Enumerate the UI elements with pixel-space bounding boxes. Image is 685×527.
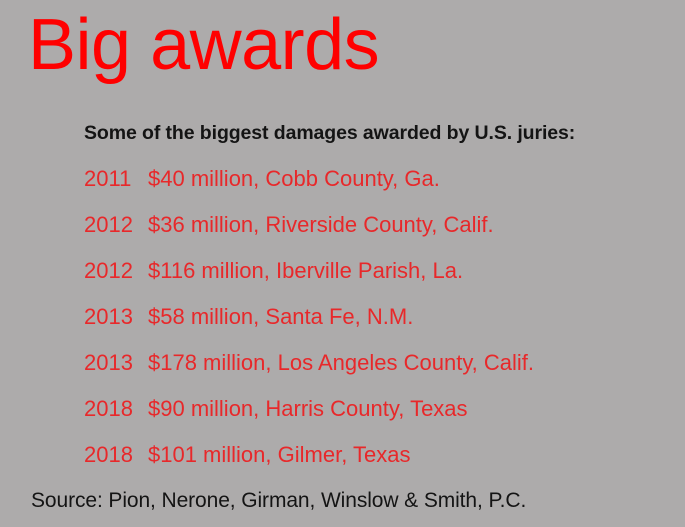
- awards-list: 2011$40 million, Cobb County, Ga. 2012$3…: [84, 164, 644, 486]
- award-year: 2013: [84, 348, 148, 378]
- list-item: 2012$36 million, Riverside County, Calif…: [84, 210, 644, 256]
- subtitle-text: Some of the biggest damages awarded by U…: [84, 120, 575, 146]
- award-detail: $116 million, Iberville Parish, La.: [148, 256, 463, 286]
- award-year: 2018: [84, 394, 148, 424]
- award-year: 2011: [84, 164, 148, 194]
- list-item: 2012$116 million, Iberville Parish, La.: [84, 256, 644, 302]
- list-item: 2018$90 million, Harris County, Texas: [84, 394, 644, 440]
- award-year: 2012: [84, 256, 148, 286]
- award-detail: $90 million, Harris County, Texas: [148, 394, 468, 424]
- list-item: 2013$178 million, Los Angeles County, Ca…: [84, 348, 644, 394]
- source-attribution: Source: Pion, Nerone, Girman, Winslow & …: [31, 487, 526, 515]
- award-detail: $178 million, Los Angeles County, Calif.: [148, 348, 534, 378]
- award-detail: $36 million, Riverside County, Calif.: [148, 210, 494, 240]
- award-detail: $58 million, Santa Fe, N.M.: [148, 302, 413, 332]
- list-item: 2013$58 million, Santa Fe, N.M.: [84, 302, 644, 348]
- list-item: 2018$101 million, Gilmer, Texas: [84, 440, 644, 486]
- award-detail: $101 million, Gilmer, Texas: [148, 440, 411, 470]
- award-detail: $40 million, Cobb County, Ga.: [148, 164, 440, 194]
- award-year: 2012: [84, 210, 148, 240]
- page-title: Big awards: [28, 2, 379, 88]
- slide-canvas: Big awards Some of the biggest damages a…: [0, 0, 685, 527]
- list-item: 2011$40 million, Cobb County, Ga.: [84, 164, 644, 210]
- award-year: 2013: [84, 302, 148, 332]
- award-year: 2018: [84, 440, 148, 470]
